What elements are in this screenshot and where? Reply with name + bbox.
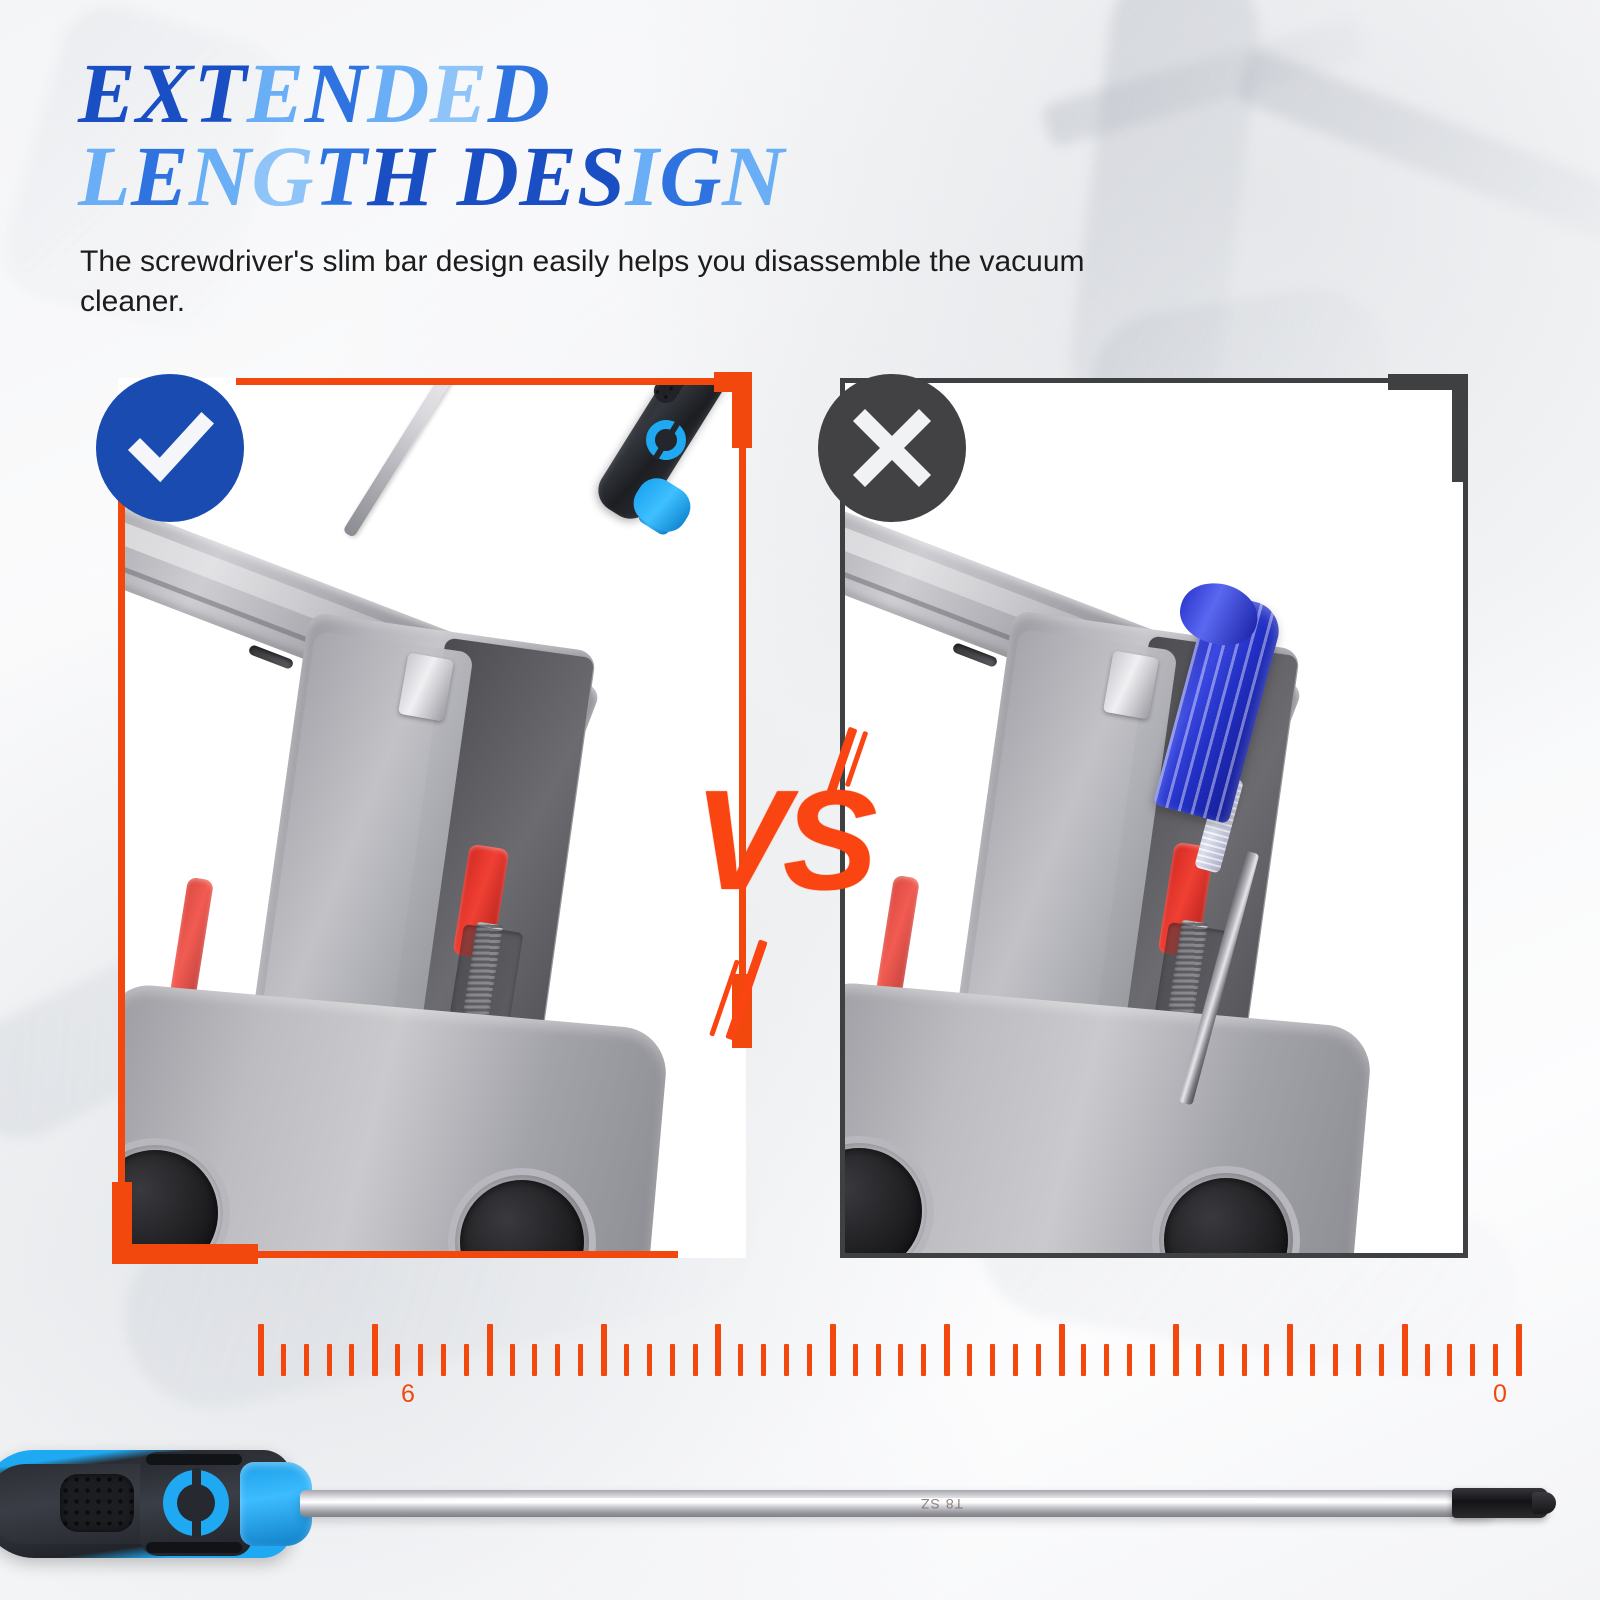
- ruler-tick-minor: [1333, 1344, 1338, 1376]
- status-badge-bad: [818, 374, 966, 522]
- ruler-tick-minor: [624, 1344, 629, 1376]
- hero-screwdriver: T8 SZ: [0, 1424, 1600, 1600]
- headline-line-1: EXTENDED: [78, 52, 1078, 135]
- hero-handle-rib-bottom: [146, 1542, 242, 1553]
- page-title: EXTENDED LENGTH DESIGN: [78, 52, 1078, 217]
- ruler-tick-major: [1287, 1324, 1293, 1376]
- infographic-canvas: EXTENDED LENGTH DESIGN The screwdriver's…: [0, 0, 1600, 1600]
- background-shape: [1062, 0, 1268, 437]
- ruler-tick-major: [1173, 1324, 1179, 1376]
- ruler-tick-minor: [1104, 1344, 1109, 1376]
- ruler-tick-minor: [898, 1344, 903, 1376]
- ruler-tick-minor: [349, 1344, 354, 1376]
- ruler-tick-minor: [1081, 1344, 1086, 1376]
- ruler-tick-minor: [555, 1344, 560, 1376]
- ruler-label-right: 0: [1480, 1380, 1520, 1409]
- ruler-tick-major: [487, 1324, 493, 1376]
- ruler-tick-minor: [1379, 1344, 1384, 1376]
- ruler-tick-minor: [921, 1344, 926, 1376]
- ruler-tick-minor: [510, 1344, 515, 1376]
- hero-handle-rib-top: [146, 1454, 242, 1465]
- ruler-tick-major: [1516, 1324, 1522, 1376]
- ruler-tick-minor: [418, 1344, 423, 1376]
- comparison-panel-good: [118, 378, 746, 1258]
- ruler-tick-minor: [1356, 1344, 1361, 1376]
- ruler-tick-minor: [1127, 1344, 1132, 1376]
- headline-line-2: LENGTH DESIGN: [78, 135, 1078, 218]
- ruler-tick-minor: [395, 1344, 400, 1376]
- ruler-tick-minor: [281, 1344, 286, 1376]
- ruler-tick-minor: [1242, 1344, 1247, 1376]
- ruler-tick-minor: [1493, 1344, 1498, 1376]
- vacuum-illustration: [840, 378, 1468, 1258]
- vs-graphic: VS: [686, 726, 912, 1062]
- ruler-tick-major: [1059, 1324, 1065, 1376]
- vs-bolt: [725, 939, 767, 1040]
- hero-shaft-marking: T8 SZ: [920, 1496, 963, 1512]
- comparison-panel-bad: [840, 378, 1468, 1258]
- ruler-scale: [258, 1318, 1516, 1376]
- ruler-tick-major: [830, 1324, 836, 1376]
- ruler-tick-minor: [876, 1344, 881, 1376]
- check-icon: [124, 402, 216, 494]
- ruler-tick-minor: [532, 1344, 537, 1376]
- ruler-tick-minor: [464, 1344, 469, 1376]
- vs-label: VS: [694, 770, 871, 912]
- ruler-tick-minor: [1264, 1344, 1269, 1376]
- ruler-tick-major: [715, 1324, 721, 1376]
- ruler-tick-minor: [738, 1344, 743, 1376]
- ruler-tick-minor: [761, 1344, 766, 1376]
- ruler-tick-major: [601, 1324, 607, 1376]
- ruler-tick-minor: [807, 1344, 812, 1376]
- ruler-tick-minor: [578, 1344, 583, 1376]
- ruler-tick-minor: [670, 1344, 675, 1376]
- ruler-tick-minor: [647, 1344, 652, 1376]
- ruler-tick-major: [944, 1324, 950, 1376]
- ruler-tick-minor: [304, 1344, 309, 1376]
- ruler-tick-minor: [441, 1344, 446, 1376]
- ruler-tick-minor: [1310, 1344, 1315, 1376]
- ruler-tick-minor: [1036, 1344, 1041, 1376]
- ruler-tick-minor: [990, 1344, 995, 1376]
- background-shape: [1040, 15, 1369, 148]
- ruler-tick-minor: [967, 1344, 972, 1376]
- ruler-tick-minor: [1013, 1344, 1018, 1376]
- ruler-tick-major: [258, 1324, 264, 1376]
- ruler-tick-minor: [1447, 1344, 1452, 1376]
- ruler-tick-minor: [693, 1344, 698, 1376]
- hero-shaft: [300, 1490, 1492, 1517]
- ruler-tick-minor: [1470, 1344, 1475, 1376]
- status-badge-good: [96, 374, 244, 522]
- cross-icon: [849, 405, 935, 491]
- subtitle-text: The screwdriver's slim bar design easily…: [80, 242, 1090, 322]
- ruler-tick-minor: [1425, 1344, 1430, 1376]
- hero-shaft-highlight: [300, 1498, 1492, 1502]
- ruler-tick-minor: [327, 1344, 332, 1376]
- ruler-tick-minor: [1150, 1344, 1155, 1376]
- ruler-tick-major: [372, 1324, 378, 1376]
- product-photo-bad: [840, 378, 1468, 1258]
- ruler-tick-minor: [784, 1344, 789, 1376]
- hero-torx-tip-end: [1532, 1492, 1556, 1514]
- product-photo-good: [118, 378, 746, 1258]
- background-shape: [1234, 47, 1600, 250]
- ruler-tick-minor: [853, 1344, 858, 1376]
- ruler-tick-major: [1402, 1324, 1408, 1376]
- c-ring-logo-cut: [192, 1468, 201, 1538]
- ruler-tick-minor: [1219, 1344, 1224, 1376]
- ruler-label-left: 6: [388, 1380, 428, 1409]
- hero-grip-texture-pad: [60, 1474, 134, 1532]
- ruler-tick-minor: [1196, 1344, 1201, 1376]
